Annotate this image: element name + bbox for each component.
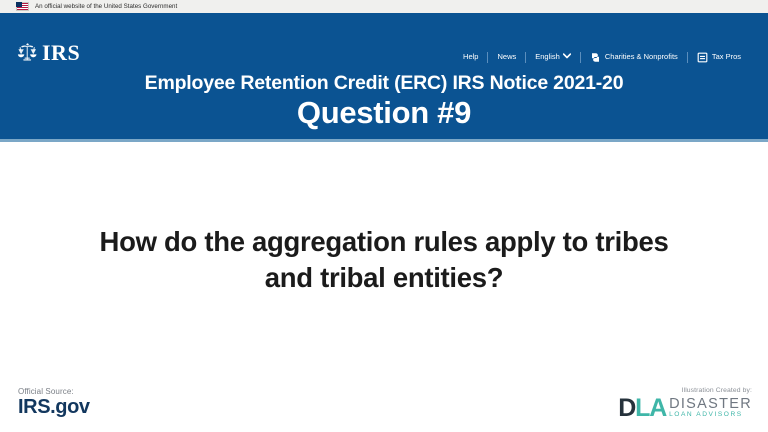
us-flag-icon (16, 2, 29, 11)
slide-canvas: An official website of the United States… (0, 0, 768, 432)
nav-item-help[interactable]: Help (454, 53, 487, 61)
header-top-bar: IRS Help News English (0, 13, 768, 59)
nav-item-label: English (535, 53, 560, 61)
source-label: Official Source: (18, 387, 90, 396)
nav-item-label: News (497, 53, 516, 61)
gov-banner-text: An official website of the United States… (35, 3, 177, 10)
nav-item-news[interactable]: News (488, 53, 525, 61)
irs-site-header: IRS Help News English (0, 13, 768, 142)
irs-wordmark: IRS (42, 42, 80, 63)
id-card-icon (697, 52, 708, 63)
creator-attribution: Illustration Created by: DLA DISASTER LO… (618, 387, 752, 420)
dla-monogram: DLA (618, 397, 666, 420)
nav-item-language[interactable]: English (526, 53, 580, 61)
irs-eagle-scales-emblem-icon (15, 42, 39, 63)
source-value: IRS.gov (18, 397, 90, 418)
dla-monogram-la: LA (635, 394, 666, 422)
dla-name-primary: DISASTER (669, 397, 752, 412)
nav-item-label: Charities & Nonprofits (605, 53, 678, 61)
question-text: How do the aggregation rules apply to tr… (84, 224, 684, 297)
gov-banner: An official website of the United States… (0, 0, 768, 13)
dla-wordmark: DISASTER LOAN ADVISORS (669, 397, 752, 419)
page-subtitle-question-number: Question #9 (0, 97, 768, 130)
dla-name-secondary: LOAN ADVISORS (669, 412, 752, 419)
header-title-block: Employee Retention Credit (ERC) IRS Noti… (0, 73, 768, 130)
dla-monogram-d: D (618, 394, 635, 422)
ribbon-icon (590, 52, 601, 63)
nav-item-charities-nonprofits[interactable]: Charities & Nonprofits (581, 52, 687, 63)
nav-item-label: Help (463, 53, 478, 61)
dla-logo: DLA DISASTER LOAN ADVISORS (618, 397, 752, 420)
page-title: Employee Retention Credit (ERC) IRS Noti… (0, 73, 768, 93)
chevron-down-icon (563, 53, 571, 61)
nav-item-tax-pros[interactable]: Tax Pros (688, 52, 750, 63)
source-attribution: Official Source: IRS.gov (18, 387, 90, 418)
credit-label: Illustration Created by: (618, 387, 752, 394)
header-nav: Help News English (454, 49, 750, 65)
irs-logo[interactable]: IRS (15, 41, 80, 63)
nav-item-label: Tax Pros (712, 53, 741, 61)
